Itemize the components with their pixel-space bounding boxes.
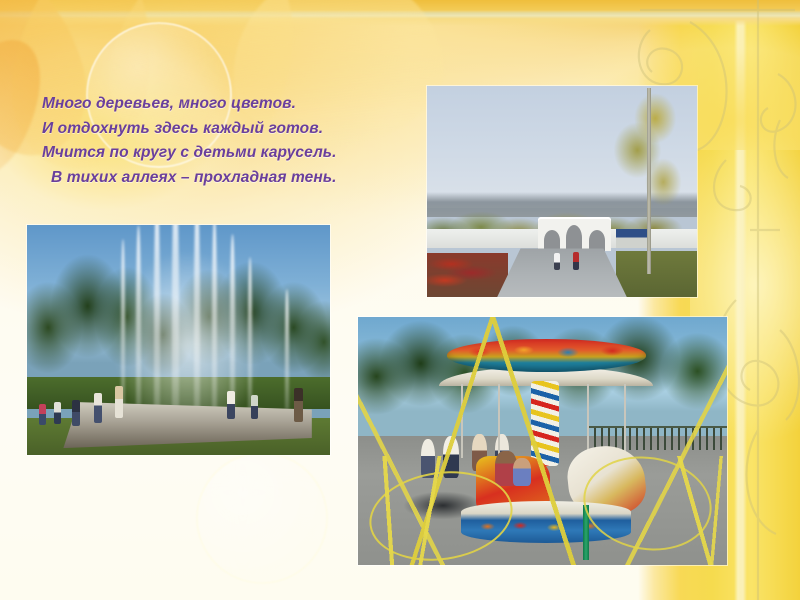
photo-yellow-barrier xyxy=(358,456,727,565)
photo-carousel-strut xyxy=(498,384,500,458)
photo-person xyxy=(39,404,46,425)
photo-water-jet xyxy=(285,289,289,409)
photo-striped-center-pole xyxy=(531,381,559,465)
photo-person xyxy=(251,395,258,419)
photo-arch xyxy=(544,230,560,251)
poem-text-block: Много деревьев, много цветов. И отдохнут… xyxy=(42,92,422,190)
poem-line-1: Много деревьев, много цветов. xyxy=(42,92,422,117)
photo-autumn-tree xyxy=(605,90,686,267)
photo-water-spray xyxy=(106,230,270,414)
carousel-photo xyxy=(358,317,727,565)
photo-carousel-strut xyxy=(624,384,626,458)
photo-carousel-strut xyxy=(587,384,589,458)
photo-arched-gate xyxy=(538,217,611,251)
photo-person xyxy=(554,253,560,270)
photo-canopy-ornament xyxy=(454,342,639,362)
photo-person xyxy=(115,386,123,418)
poem-line-2: И отдохнуть здесь каждый готов. xyxy=(42,117,422,142)
photo-person xyxy=(294,388,303,422)
fountain-photo xyxy=(27,225,330,455)
photo-person xyxy=(94,393,102,423)
photo-lamp-pole xyxy=(647,88,651,274)
bubble-highlight-icon xyxy=(196,452,328,584)
photo-flowerbed xyxy=(427,253,508,297)
photo-person xyxy=(573,252,579,270)
park-entrance-gate-photo xyxy=(427,86,697,297)
photo-arch xyxy=(566,225,582,251)
photo-person xyxy=(54,402,61,424)
presentation-slide: Много деревьев, много цветов. И отдохнут… xyxy=(0,0,800,600)
photo-person xyxy=(72,400,80,426)
poem-line-4: В тихих аллеях – прохладная тень. xyxy=(42,166,422,191)
photo-person xyxy=(227,391,235,419)
photo-arch xyxy=(589,230,605,251)
poem-line-3: Мчится по кругу с детьми карусель. xyxy=(42,141,422,166)
photo-carousel-strut xyxy=(461,384,463,458)
